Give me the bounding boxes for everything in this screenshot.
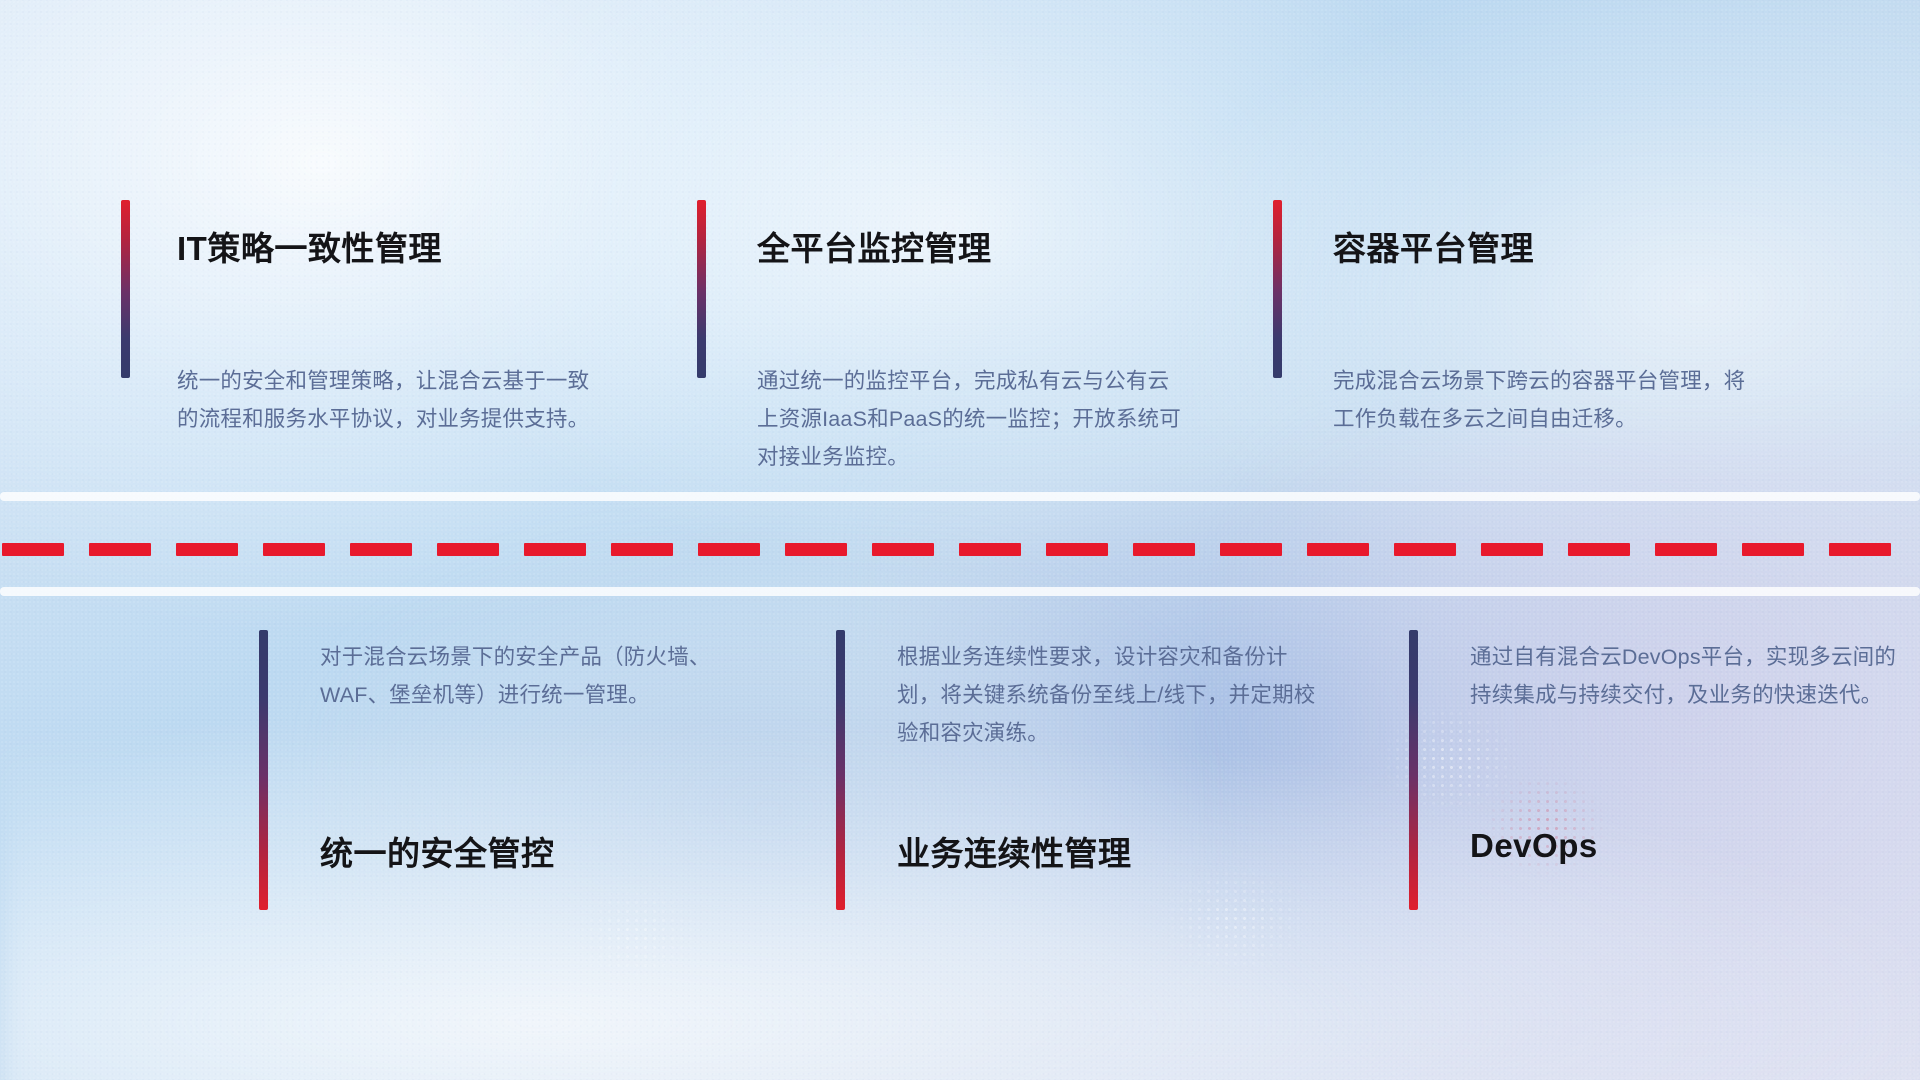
top-card-1-heading: IT策略一致性管理 (177, 222, 442, 270)
connector-bar (1409, 630, 1418, 910)
dash-segment (176, 543, 238, 556)
dash-segment (1829, 543, 1891, 556)
dash-segment (785, 543, 847, 556)
dash-segment (1394, 543, 1456, 556)
dash-segment (2, 543, 64, 556)
dash-segment (1655, 543, 1717, 556)
divider-rule-bottom (0, 587, 1920, 596)
dash-segment (1046, 543, 1108, 556)
top-card-2-heading: 全平台监控管理 (757, 222, 992, 270)
halftone-dots-3 (1150, 860, 1320, 980)
bottom-card-3-heading: DevOps (1470, 827, 1598, 865)
top-card-3-heading: 容器平台管理 (1333, 222, 1534, 270)
connector-bar (836, 630, 845, 910)
dash-segment (959, 543, 1021, 556)
divider-dashed-line (0, 543, 1920, 556)
dash-segment (611, 543, 673, 556)
bottom-card-2-heading: 业务连续性管理 (897, 827, 1132, 875)
dash-segment (1133, 543, 1195, 556)
dash-segment (872, 543, 934, 556)
connector-bar (121, 200, 130, 378)
dash-segment (437, 543, 499, 556)
top-card-2-body: 通过统一的监控平台，完成私有云与公有云上资源IaaS和PaaS的统一监控；开放系… (757, 362, 1187, 476)
dash-segment (1220, 543, 1282, 556)
connector-bar (1273, 200, 1282, 378)
dash-segment (263, 543, 325, 556)
dash-segment (1307, 543, 1369, 556)
dash-segment (89, 543, 151, 556)
bottom-card-3-body: 通过自有混合云DevOps平台，实现多云间的持续集成与持续交付，及业务的快速迭代… (1470, 638, 1900, 714)
background-texture (0, 0, 1920, 1080)
infographic-canvas: IT策略一致性管理 统一的安全和管理策略，让混合云基于一致的流程和服务水平协议，… (0, 0, 1920, 1080)
bottom-card-1-body: 对于混合云场景下的安全产品（防火墙、WAF、堡垒机等）进行统一管理。 (320, 638, 750, 714)
top-card-1-body: 统一的安全和管理策略，让混合云基于一致的流程和服务水平协议，对业务提供支持。 (177, 362, 607, 438)
bottom-card-1-heading: 统一的安全管控 (320, 827, 555, 875)
dash-segment (1742, 543, 1804, 556)
dash-segment (350, 543, 412, 556)
dash-segment (1481, 543, 1543, 556)
dash-segment (1568, 543, 1630, 556)
dash-segment (524, 543, 586, 556)
dash-segment (698, 543, 760, 556)
connector-bar (697, 200, 706, 378)
top-card-3-body: 完成混合云场景下跨云的容器平台管理，将工作负载在多云之间自由迁移。 (1333, 362, 1763, 438)
divider-rule-top (0, 492, 1920, 501)
bottom-card-2-body: 根据业务连续性要求，设计容灾和备份计划，将关键系统备份至线上/线下，并定期校验和… (897, 638, 1327, 752)
halftone-dots-4 (560, 880, 710, 990)
connector-bar (259, 630, 268, 910)
